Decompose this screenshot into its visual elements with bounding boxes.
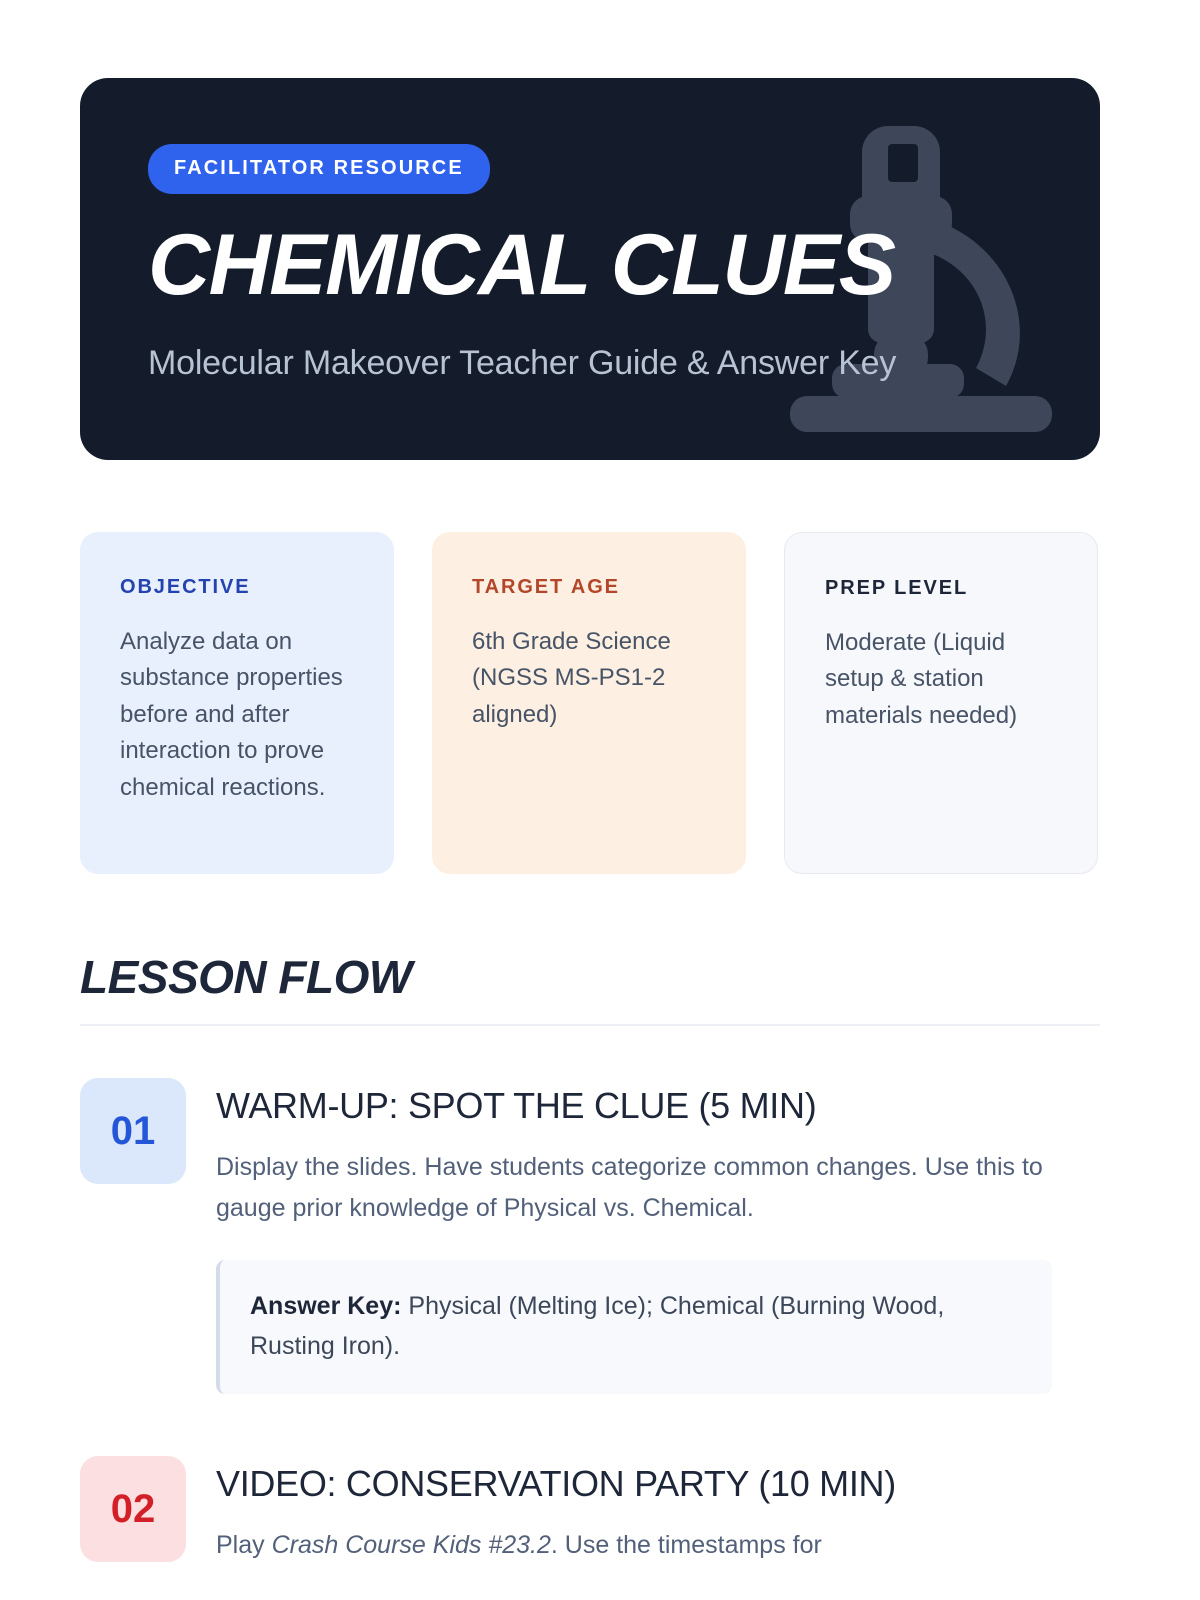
answer-key-box: Answer Key: Physical (Melting Ice); Chem…	[216, 1260, 1052, 1394]
step-description-suffix: . Use the timestamps for	[551, 1531, 822, 1559]
step-content: VIDEO: CONSERVATION PARTY (10 MIN) Play …	[216, 1456, 1120, 1566]
page-subtitle: Molecular Makeover Teacher Guide & Answe…	[148, 344, 1100, 383]
lesson-step: 01 WARM-UP: SPOT THE CLUE (5 MIN) Displa…	[80, 1078, 1120, 1394]
document-page: FACILITATOR RESOURCE CHEMICAL CLUES Mole…	[0, 0, 1200, 1600]
info-card-row: OBJECTIVE Analyze data on substance prop…	[80, 532, 1120, 874]
hero-header: FACILITATOR RESOURCE CHEMICAL CLUES Mole…	[80, 78, 1100, 460]
page-title: CHEMICAL CLUES	[148, 222, 1100, 308]
facilitator-resource-badge: FACILITATOR RESOURCE	[148, 144, 490, 194]
step-content: WARM-UP: SPOT THE CLUE (5 MIN) Display t…	[216, 1078, 1120, 1394]
lesson-step-list: 01 WARM-UP: SPOT THE CLUE (5 MIN) Displa…	[80, 1078, 1120, 1566]
answer-key-label: Answer Key:	[250, 1292, 401, 1320]
info-card-target-age: TARGET AGE 6th Grade Science (NGSS MS-PS…	[432, 532, 746, 874]
card-label-objective: OBJECTIVE	[120, 576, 356, 599]
card-text-objective: Analyze data on substance properties bef…	[120, 624, 356, 806]
card-text-prep-level: Moderate (Liquid setup & station materia…	[825, 625, 1059, 734]
step-number-badge: 01	[80, 1078, 186, 1184]
step-description-prefix: Play	[216, 1531, 272, 1559]
lesson-step: 02 VIDEO: CONSERVATION PARTY (10 MIN) Pl…	[80, 1456, 1120, 1566]
card-label-prep-level: PREP LEVEL	[825, 577, 1059, 600]
info-card-objective: OBJECTIVE Analyze data on substance prop…	[80, 532, 394, 874]
step-number-badge: 02	[80, 1456, 186, 1562]
step-description-italic: Crash Course Kids #23.2	[272, 1531, 551, 1559]
step-description: Display the slides. Have students catego…	[216, 1147, 1052, 1228]
step-title: WARM-UP: SPOT THE CLUE (5 MIN)	[216, 1084, 1120, 1127]
section-heading-lesson-flow: LESSON FLOW	[80, 950, 1120, 1004]
card-label-target-age: TARGET AGE	[472, 576, 708, 599]
answer-key-text: Answer Key: Physical (Melting Ice); Chem…	[250, 1286, 1022, 1366]
step-title: VIDEO: CONSERVATION PARTY (10 MIN)	[216, 1462, 1120, 1505]
step-description: Play Crash Course Kids #23.2. Use the ti…	[216, 1525, 1052, 1566]
section-divider	[80, 1024, 1100, 1026]
card-text-target-age: 6th Grade Science (NGSS MS-PS1-2 aligned…	[472, 624, 708, 733]
info-card-prep-level: PREP LEVEL Moderate (Liquid setup & stat…	[784, 532, 1098, 874]
